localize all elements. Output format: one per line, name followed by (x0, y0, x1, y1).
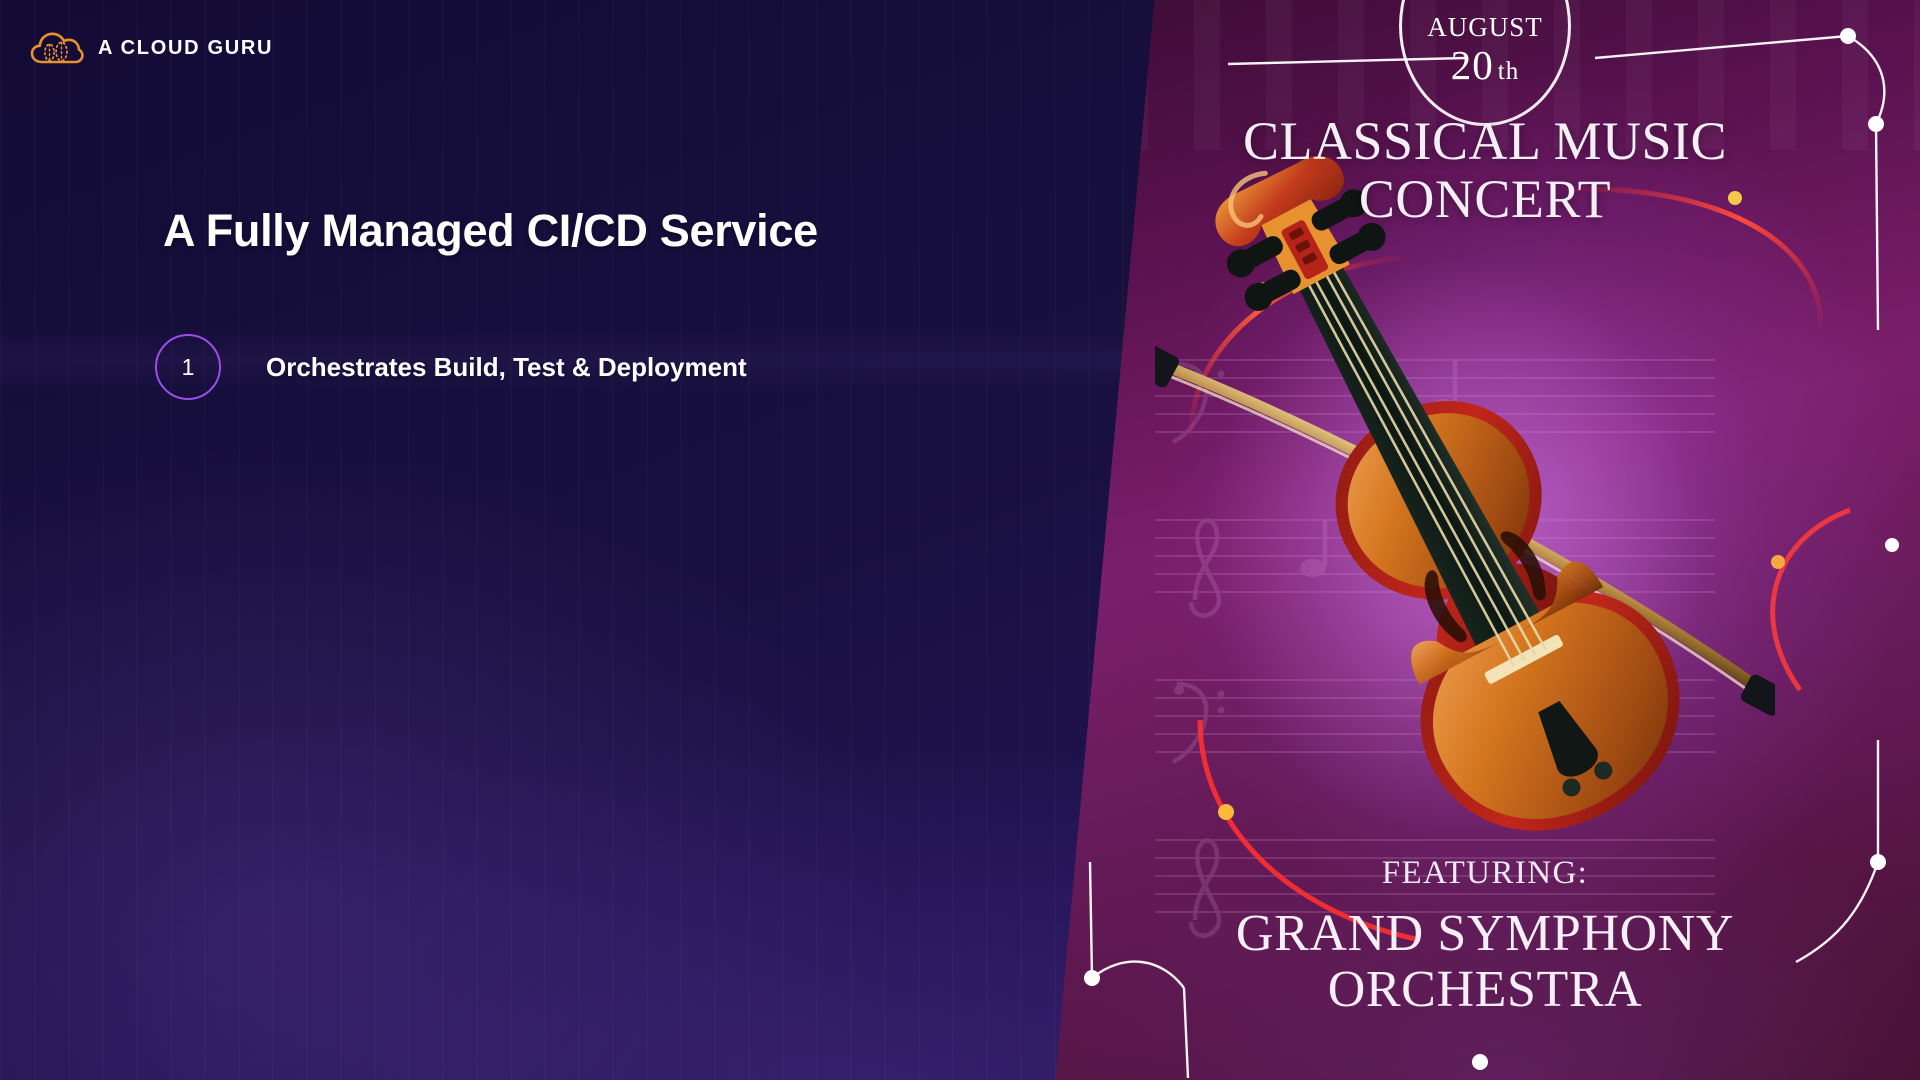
brand-logo[interactable]: A CLOUD GURU (30, 28, 273, 68)
date-day: 20th (1451, 43, 1519, 87)
date-month: AUGUST (1427, 14, 1543, 41)
performer-line1: GRAND SYMPHONY (1236, 905, 1734, 962)
poster-title: CLASSICAL MUSIC CONCERT (1050, 112, 1920, 229)
bullet-number-badge: 1 (155, 334, 221, 400)
cloud-guru-cloud-icon (30, 28, 84, 68)
brand-name: A CLOUD GURU (98, 37, 273, 60)
list-item: 1 Orchestrates Build, Test & Deployment (155, 334, 747, 400)
concert-poster: AUGUST 20th CLASSICAL MUSIC CONCERT FEAT… (1050, 0, 1920, 1080)
date-day-suffix: th (1498, 58, 1519, 85)
poster-title-line1: CLASSICAL MUSIC (1243, 111, 1727, 171)
performer-line2: ORCHESTRA (1328, 961, 1643, 1018)
featuring-label: FEATURING: (1050, 855, 1920, 892)
bullet-label: Orchestrates Build, Test & Deployment (266, 352, 747, 383)
date-day-number: 20 (1451, 42, 1494, 88)
page-title: A Fully Managed CI/CD Service (163, 205, 818, 257)
poster-title-line2: CONCERT (1050, 170, 1920, 228)
performer-name: GRAND SYMPHONY ORCHESTRA (1050, 906, 1920, 1018)
